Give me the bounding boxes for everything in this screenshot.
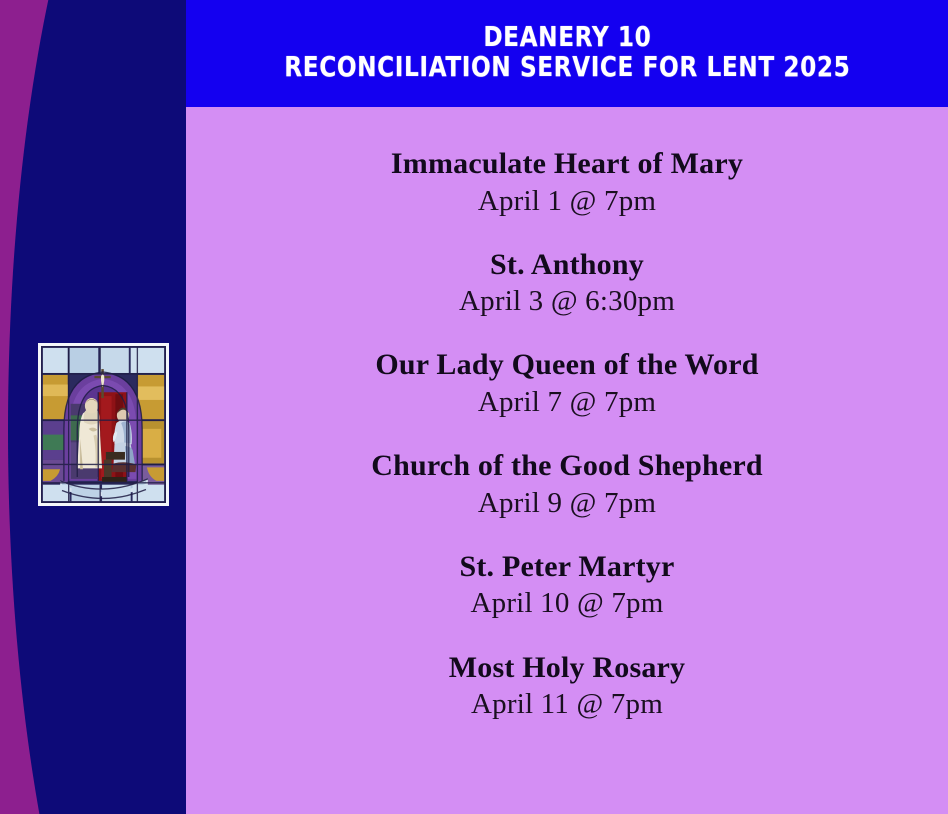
- reconciliation-service-flyer: DEANERY 10 RECONCILIATION SERVICE FOR LE…: [0, 0, 948, 814]
- schedule-entry: St. Anthony April 3 @ 6:30pm: [186, 247, 948, 321]
- service-datetime: April 11 @ 7pm: [186, 686, 948, 723]
- service-datetime: April 1 @ 7pm: [186, 183, 948, 220]
- parish-name: Immaculate Heart of Mary: [186, 146, 948, 183]
- schedule-entry: St. Peter Martyr April 10 @ 7pm: [186, 549, 948, 623]
- header-banner: DEANERY 10 RECONCILIATION SERVICE FOR LE…: [186, 0, 948, 107]
- header-title-line-2: RECONCILIATION SERVICE FOR LENT 2025: [284, 50, 850, 83]
- service-datetime: April 3 @ 6:30pm: [186, 283, 948, 320]
- service-datetime: April 9 @ 7pm: [186, 485, 948, 522]
- stained-glass-confession-image: [38, 343, 169, 506]
- schedule-list: Immaculate Heart of Mary April 1 @ 7pm S…: [186, 146, 948, 723]
- parish-name: Our Lady Queen of the Word: [186, 347, 948, 384]
- service-datetime: April 10 @ 7pm: [186, 585, 948, 622]
- schedule-entry: Most Holy Rosary April 11 @ 7pm: [186, 650, 948, 724]
- schedule-entry: Our Lady Queen of the Word April 7 @ 7pm: [186, 347, 948, 421]
- schedule-entry: Immaculate Heart of Mary April 1 @ 7pm: [186, 146, 948, 220]
- parish-name: St. Anthony: [186, 247, 948, 284]
- parish-name: Church of the Good Shepherd: [186, 448, 948, 485]
- parish-name: St. Peter Martyr: [186, 549, 948, 586]
- parish-name: Most Holy Rosary: [186, 650, 948, 687]
- header-title-line-1: DEANERY 10: [483, 20, 651, 53]
- schedule-content-area: Immaculate Heart of Mary April 1 @ 7pm S…: [186, 110, 948, 814]
- schedule-entry: Church of the Good Shepherd April 9 @ 7p…: [186, 448, 948, 522]
- stained-glass-artwork: [41, 346, 166, 503]
- service-datetime: April 7 @ 7pm: [186, 384, 948, 421]
